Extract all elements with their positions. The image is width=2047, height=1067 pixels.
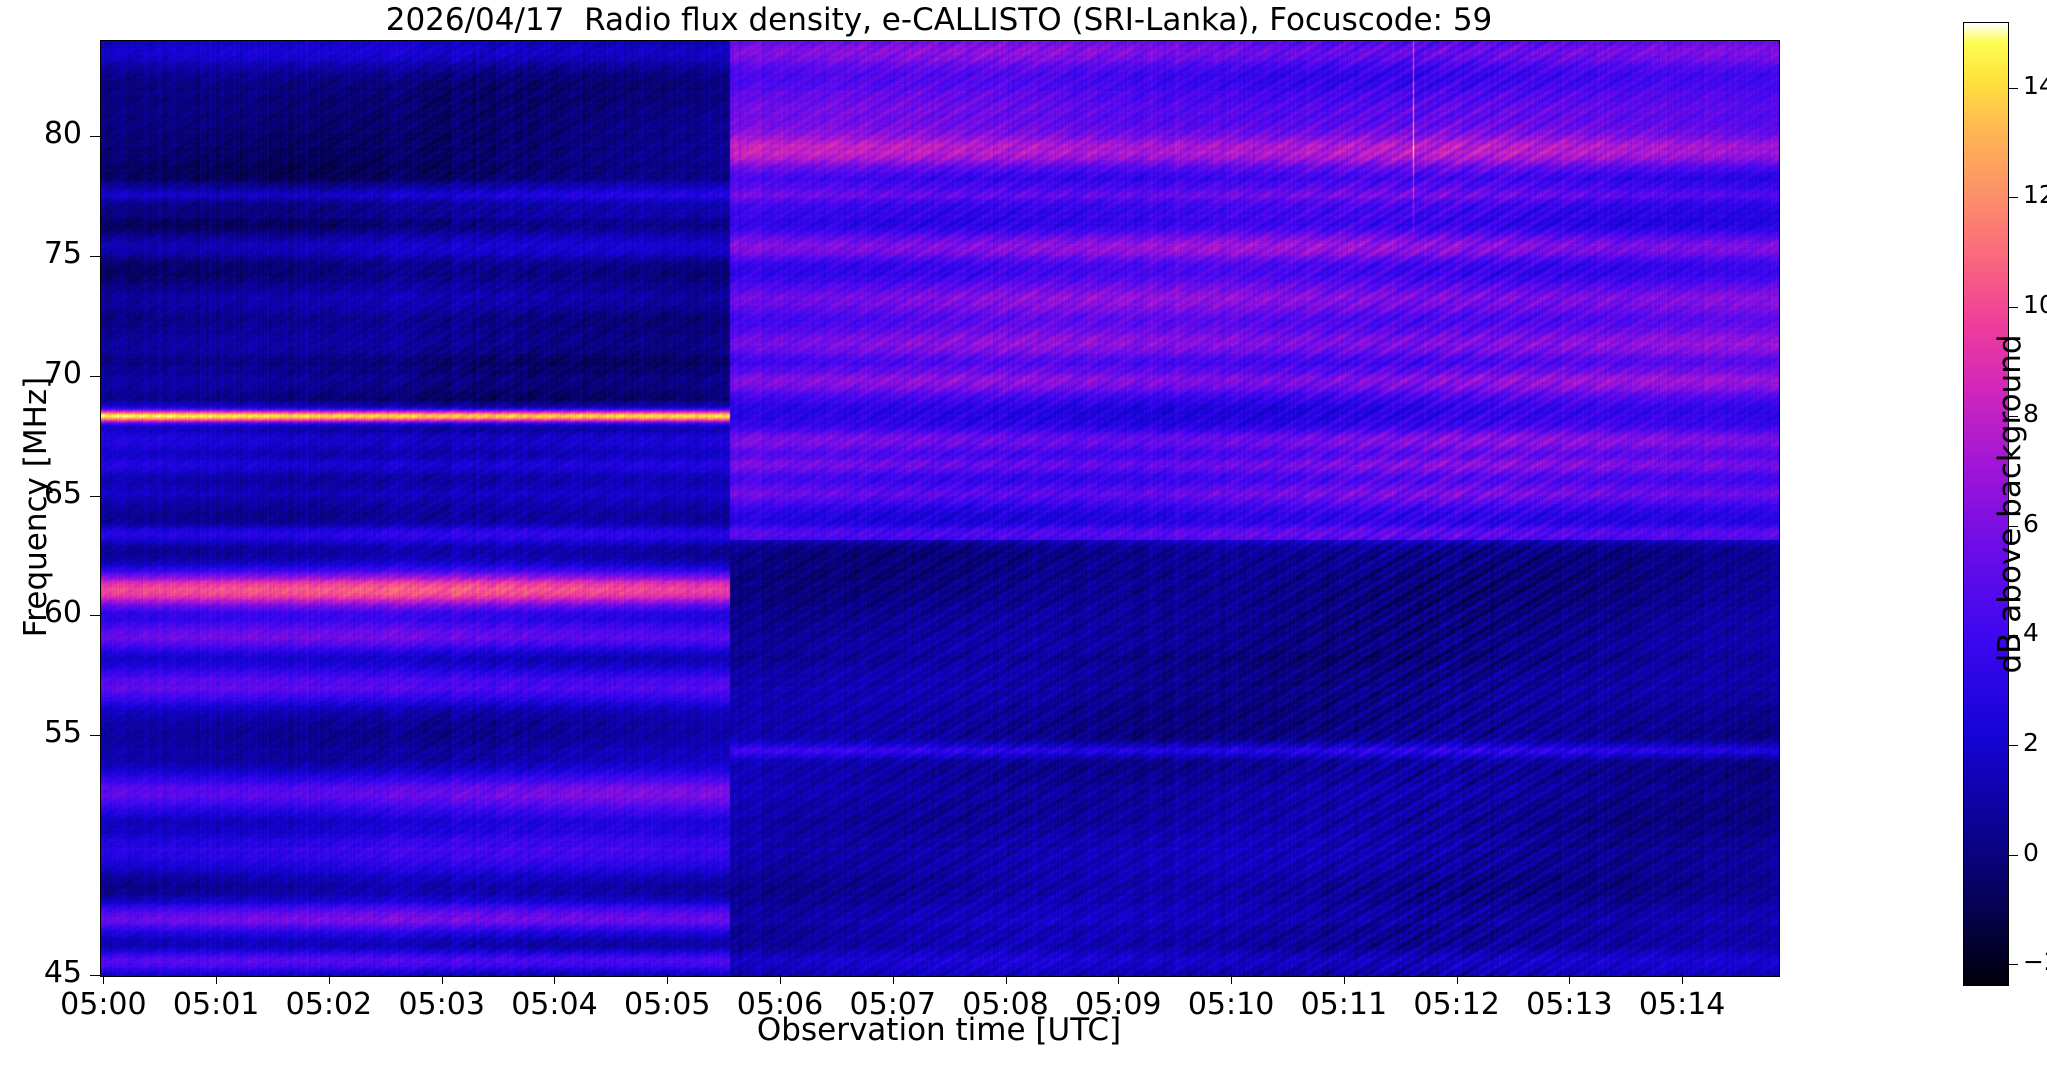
- x-axis-label: Observation time [UTC]: [0, 1012, 1878, 1048]
- y-axis-label: Frequency [MHz]: [18, 377, 54, 638]
- spectrogram-image[interactable]: [101, 41, 1779, 976]
- colorbar-tick-label: 12: [2023, 180, 2047, 209]
- x-tick-mark: [1569, 975, 1570, 984]
- y-tick-mark: [90, 496, 100, 497]
- colorbar-tick-mark: [2009, 416, 2018, 417]
- colorbar-tick-mark: [2009, 88, 2018, 89]
- y-tick-mark: [90, 136, 100, 137]
- x-tick-mark: [1006, 975, 1007, 984]
- colorbar-tick-label: 4: [2023, 618, 2039, 647]
- x-tick-mark: [329, 975, 330, 984]
- y-tick-mark: [90, 256, 100, 257]
- colorbar-tick-label: 2: [2023, 728, 2039, 757]
- colorbar-tick-mark: [2009, 526, 2018, 527]
- colorbar-tick-mark: [2009, 964, 2018, 965]
- y-tick-mark: [90, 975, 100, 976]
- x-tick-mark: [1118, 975, 1119, 984]
- colorbar-tick-label: −2: [2023, 947, 2047, 976]
- y-tick-label: 45: [0, 955, 82, 990]
- colorbar-tick-mark: [2009, 745, 2018, 746]
- colorbar-tick-label: 0: [2023, 838, 2039, 867]
- colorbar-tick-label: 6: [2023, 509, 2039, 538]
- colorbar-tick-label: 14: [2023, 71, 2047, 100]
- y-tick-label: 55: [0, 715, 82, 750]
- x-tick-mark: [103, 975, 104, 984]
- page-title: 2026/04/17 Radio flux density, e-CALLIST…: [0, 2, 1878, 38]
- spectrogram-axes[interactable]: [100, 40, 1780, 977]
- x-tick-mark: [216, 975, 217, 984]
- x-tick-mark: [1344, 975, 1345, 984]
- x-tick-mark: [1231, 975, 1232, 984]
- x-tick-mark: [1682, 975, 1683, 984]
- colorbar-tick-label: 8: [2023, 399, 2039, 428]
- colorbar-tick-mark: [2009, 635, 2018, 636]
- spectrogram-figure: 2026/04/17 Radio flux density, e-CALLIST…: [0, 0, 2047, 1067]
- colorbar-tick-mark: [2009, 197, 2018, 198]
- x-tick-mark: [442, 975, 443, 984]
- x-tick-mark: [554, 975, 555, 984]
- x-tick-mark: [667, 975, 668, 984]
- y-tick-mark: [90, 376, 100, 377]
- x-tick-mark: [893, 975, 894, 984]
- y-tick-label: 80: [0, 116, 82, 151]
- y-tick-mark: [90, 615, 100, 616]
- colorbar-tick-mark: [2009, 307, 2018, 308]
- colorbar-tick-mark: [2009, 855, 2018, 856]
- x-tick-mark: [1457, 975, 1458, 984]
- y-tick-mark: [90, 735, 100, 736]
- x-tick-mark: [780, 975, 781, 984]
- y-tick-label: 75: [0, 236, 82, 271]
- colorbar-tick-label: 10: [2023, 290, 2047, 319]
